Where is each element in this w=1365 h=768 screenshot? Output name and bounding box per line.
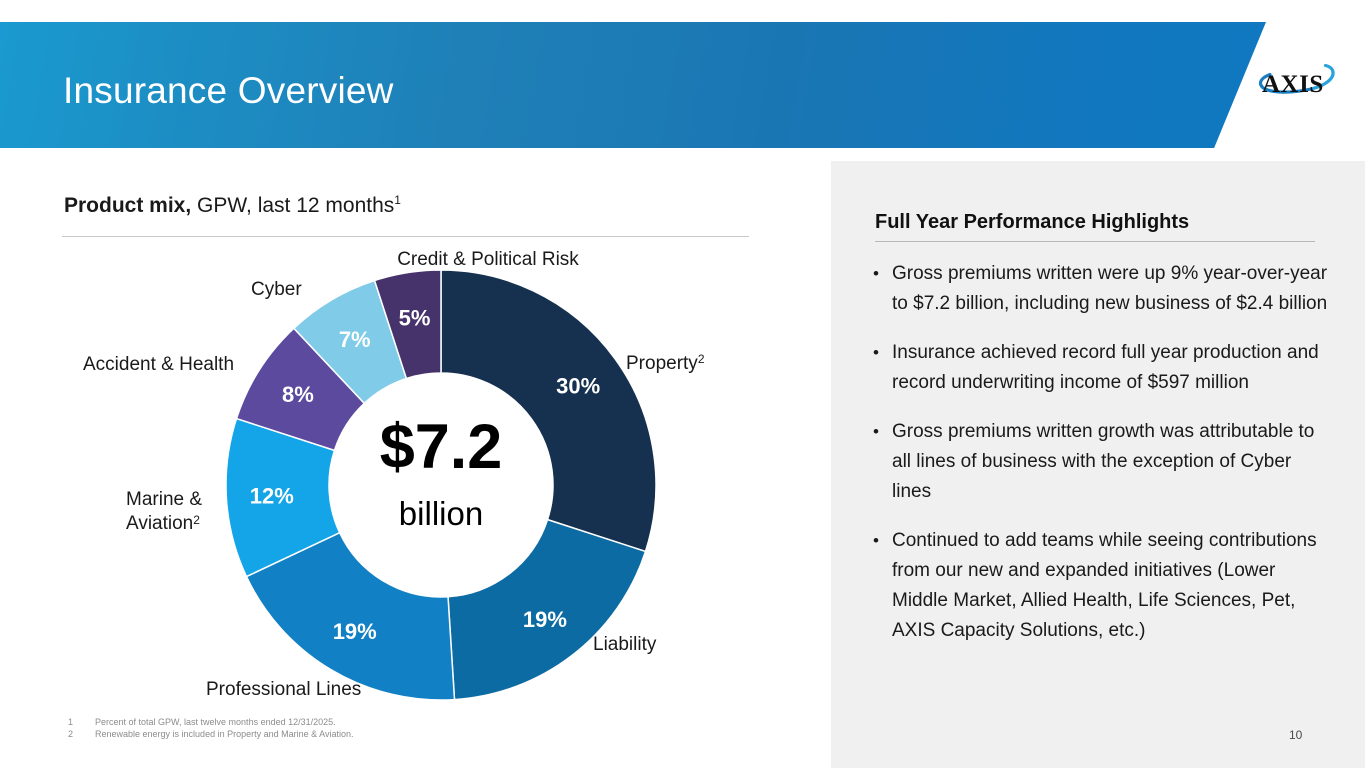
highlights-title: Full Year Performance Highlights: [875, 211, 1189, 234]
list-item-text: Gross premiums written were up 9% year-o…: [892, 259, 1333, 319]
donut-slice-value: 12%: [250, 484, 294, 509]
chart-label-credit-political-risk: Credit & Political Risk: [397, 249, 579, 270]
chart-label-professional-lines: Professional Lines: [206, 679, 361, 700]
heading-divider: [62, 236, 749, 237]
list-item: • Insurance achieved record full year pr…: [873, 338, 1333, 398]
bullet-icon: •: [873, 526, 892, 646]
footnotes: 1 Percent of total GPW, last twelve mont…: [68, 716, 354, 740]
page-title: Insurance Overview: [63, 70, 394, 112]
footnote-row: 2 Renewable energy is included in Proper…: [68, 728, 354, 740]
highlights-divider: [875, 241, 1315, 242]
donut-slice-value: 5%: [399, 306, 431, 331]
footnote-number: 2: [68, 728, 95, 740]
product-mix-heading: Product mix, GPW, last 12 months1: [64, 193, 401, 218]
donut-center-unit: billion: [399, 495, 483, 532]
donut-slice-value: 8%: [282, 382, 314, 407]
page-number: 10: [1289, 728, 1302, 742]
chart-label-cyber: Cyber: [251, 279, 302, 300]
logo-wordmark: AXIS: [1262, 71, 1324, 98]
product-mix-donut-chart: 30%19%19%12%8%7%5% $7.2 billion Credit &…: [60, 240, 822, 720]
bullet-icon: •: [873, 417, 892, 507]
highlights-list: • Gross premiums written were up 9% year…: [873, 259, 1333, 665]
chart-label-property: Property2: [626, 352, 705, 374]
chart-label-liability: Liability: [593, 634, 657, 655]
footnote-number: 1: [68, 716, 95, 728]
donut-slice-value: 19%: [333, 619, 377, 644]
heading-bold: Product mix,: [64, 194, 191, 217]
footnote-row: 1 Percent of total GPW, last twelve mont…: [68, 716, 354, 728]
bullet-icon: •: [873, 338, 892, 398]
heading-rest: GPW, last 12 months: [191, 194, 394, 217]
list-item-text: Gross premiums written growth was attrib…: [892, 417, 1333, 507]
list-item: • Continued to add teams while seeing co…: [873, 526, 1333, 646]
donut-center-value: $7.2: [380, 412, 503, 482]
footnote-text: Renewable energy is included in Property…: [95, 728, 354, 740]
chart-label-accident-health: Accident & Health: [83, 354, 234, 375]
chart-label-marine-aviation: Marine &: [126, 489, 202, 510]
list-item: • Gross premiums written were up 9% year…: [873, 259, 1333, 319]
footnote-text: Percent of total GPW, last twelve months…: [95, 716, 336, 728]
donut-slice-value: 30%: [556, 373, 600, 398]
heading-superscript: 1: [394, 193, 401, 207]
axis-logo: AXIS: [1256, 58, 1342, 116]
list-item-text: Insurance achieved record full year prod…: [892, 338, 1333, 398]
list-item: • Gross premiums written growth was attr…: [873, 417, 1333, 507]
donut-slice-value: 7%: [339, 327, 371, 352]
chart-label-marine-aviation-line2: Aviation2: [126, 513, 200, 534]
list-item-text: Continued to add teams while seeing cont…: [892, 526, 1333, 646]
bullet-icon: •: [873, 259, 892, 319]
donut-slice-value: 19%: [523, 607, 567, 632]
highlights-panel: Full Year Performance Highlights • Gross…: [831, 161, 1365, 768]
